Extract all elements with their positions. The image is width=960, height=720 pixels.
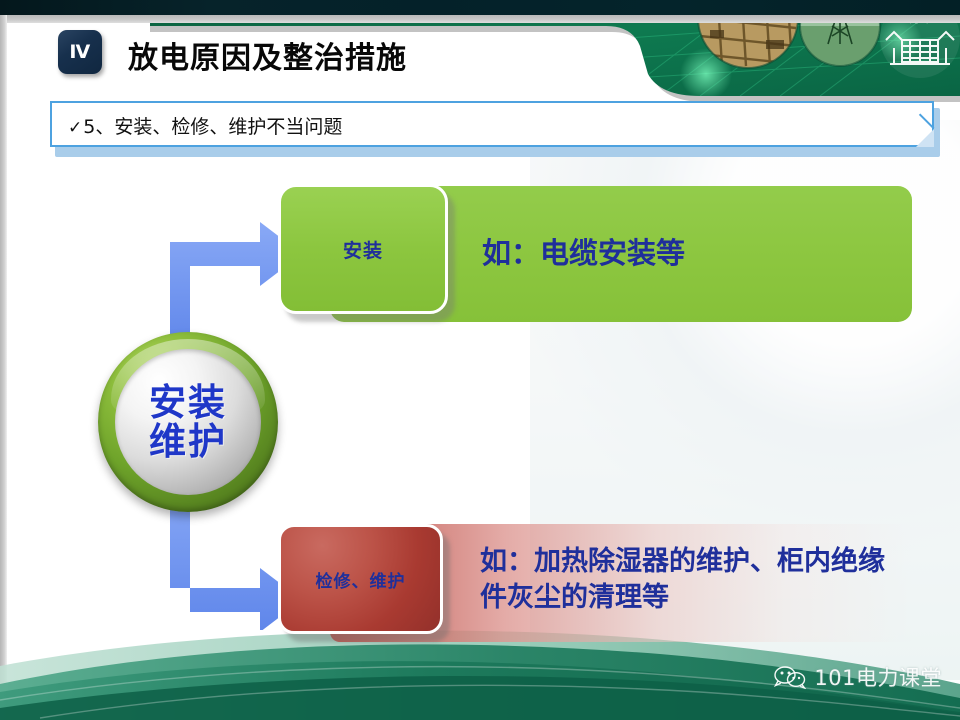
subtitle-text-row: ✓5、安装、检修、维护不当问题: [68, 112, 342, 139]
subtitle-label: 5、安装、检修、维护不当问题: [83, 116, 342, 138]
brand-watermark-text: 101电力课堂: [814, 662, 942, 692]
branch-green-label-text: 安装: [343, 236, 383, 263]
subtitle-callout: ✓5、安装、检修、维护不当问题: [50, 101, 934, 147]
branch-green-description: 如：电缆安装等: [482, 230, 685, 272]
branch-red-label[interactable]: 检修、维护: [278, 524, 443, 634]
corner-fold-line: [919, 113, 935, 129]
hub-label-line1: 安装: [149, 383, 227, 422]
brand-watermark: 101电力课堂: [773, 662, 942, 692]
branch-red-description: 如：加热除湿器的维护、柜内绝缘件灰尘的清理等: [480, 544, 900, 615]
slide-canvas: 电力课堂 101 Ⅳ 放电原因及整治措施 ✓5、安装、检修、维护不当问题: [0, 0, 960, 720]
branch-green-label[interactable]: 安装: [278, 184, 448, 314]
top-dark-strip: [0, 0, 960, 15]
check-icon: ✓: [68, 118, 82, 138]
top-gray-band: [0, 15, 960, 23]
corner-fold-icon: [916, 129, 934, 147]
hub-circle-inner: 安装 维护: [115, 349, 261, 495]
chapter-number-label: Ⅳ: [69, 41, 90, 64]
hub-circle[interactable]: 安装 维护: [98, 332, 278, 512]
hub-label-line2: 维护: [149, 422, 227, 461]
page-title: 放电原因及整治措施: [128, 33, 407, 77]
branch-red-label-text: 检修、维护: [316, 567, 406, 592]
chapter-number-badge: Ⅳ: [58, 30, 102, 74]
wechat-icon: [773, 665, 807, 689]
